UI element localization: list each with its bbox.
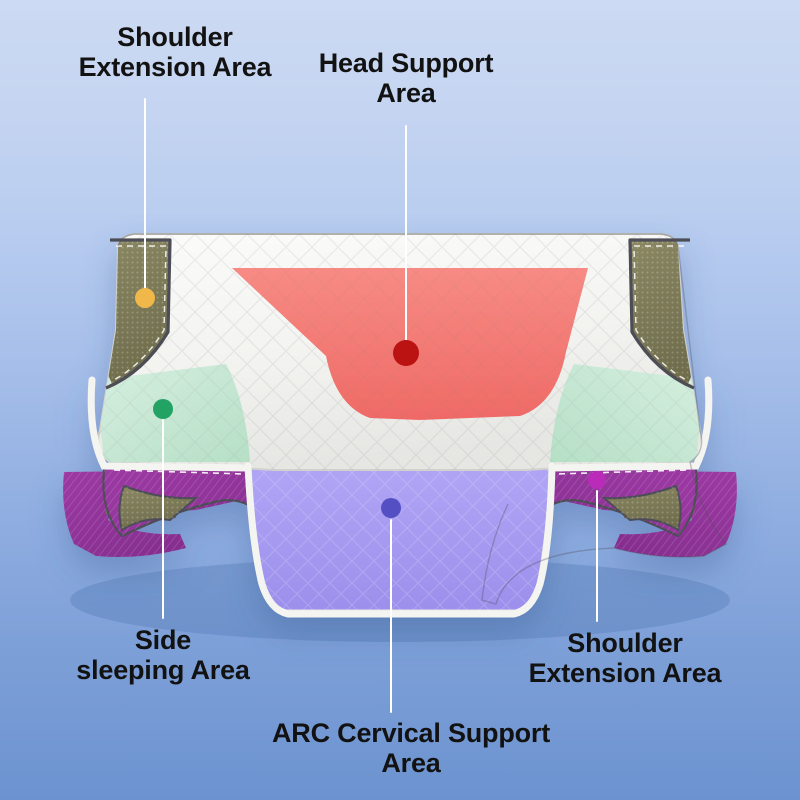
- marker-dot-arc-cervical-support[interactable]: [381, 498, 401, 518]
- leader-line-shoulder-extension-right: [596, 490, 598, 622]
- marker-dot-shoulder-extension-left[interactable]: [135, 288, 155, 308]
- marker-dot-head-support[interactable]: [393, 340, 419, 366]
- leader-line-side-sleeping: [162, 419, 164, 619]
- label-head-support: Head Support Area: [256, 48, 556, 108]
- label-arc-cervical-support: ARC Cervical Support Area: [221, 718, 601, 778]
- marker-dot-shoulder-extension-right[interactable]: [588, 471, 606, 489]
- label-shoulder-extension-right: Shoulder Extension Area: [475, 628, 775, 688]
- label-side-sleeping: Side sleeping Area: [33, 625, 293, 685]
- leader-line-arc-cervical-support: [390, 519, 392, 713]
- marker-dot-side-sleeping[interactable]: [153, 399, 173, 419]
- leader-line-head-support: [405, 125, 407, 341]
- pillow-infographic: Shoulder Extension Area Head Support Are…: [0, 0, 800, 800]
- leader-line-shoulder-extension-left: [144, 98, 146, 291]
